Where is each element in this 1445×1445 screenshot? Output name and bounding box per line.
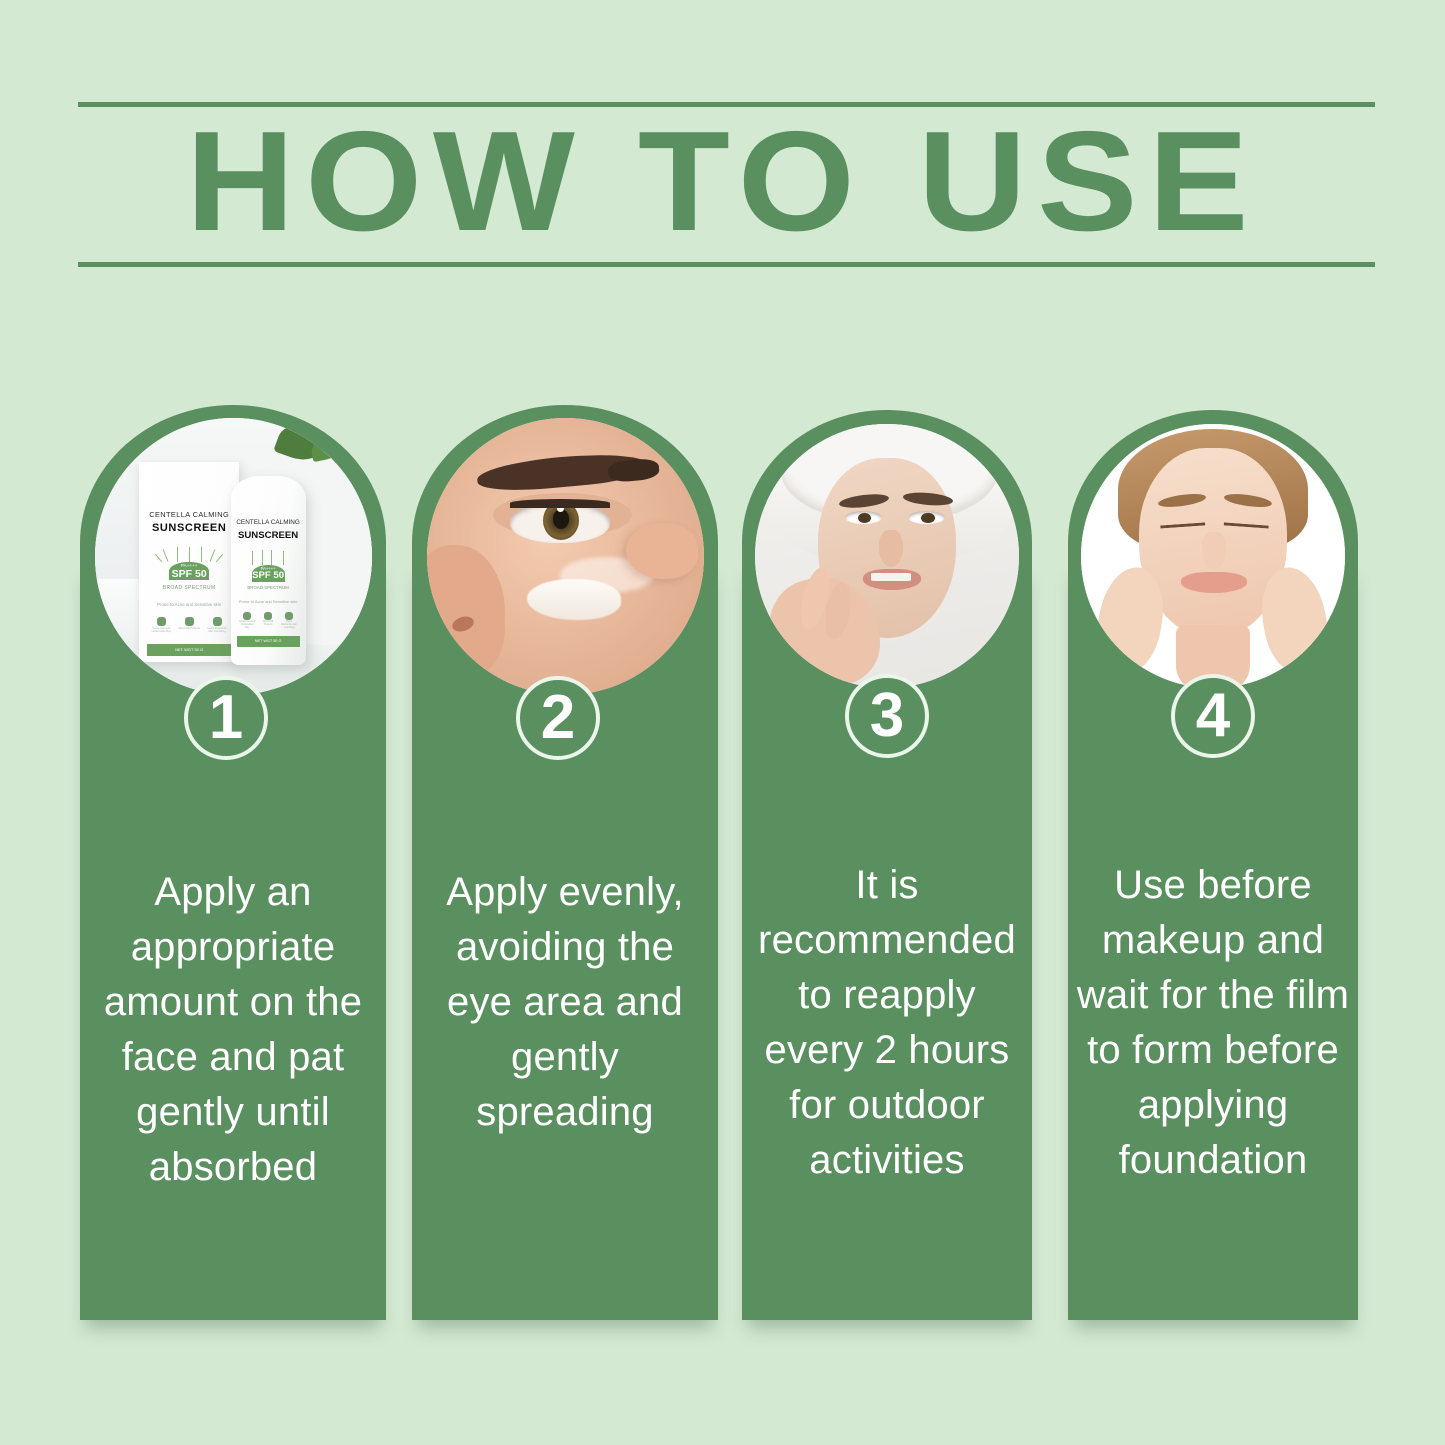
- serene-model-photo: [1081, 424, 1345, 688]
- towel-model-photo: [755, 424, 1019, 688]
- step-number-badge-3: 3: [845, 674, 929, 758]
- step-caption-1: Apply an appropriate amount on the face …: [96, 865, 370, 1195]
- step-image-4: [1081, 424, 1345, 688]
- sunscreen-product-photo: CENTELLA CALMING SUNSCREEN PA++++ SPF 50…: [95, 418, 372, 695]
- step-number-badge-2: 2: [516, 676, 600, 760]
- step-number-3: 3: [870, 685, 904, 747]
- product-skin-note: Prone to Acne and Sensitive skin: [139, 602, 239, 607]
- product-benefit-3: Helps Moisturize skin nourishing: [205, 617, 228, 633]
- product-spectrum: BROAD SPECTRUM: [139, 585, 239, 591]
- step-number-badge-4: 4: [1171, 674, 1255, 758]
- step-number-badge-1: 1: [184, 676, 268, 760]
- product-box: CENTELLA CALMING SUNSCREEN PA++++ SPF 50…: [139, 462, 239, 661]
- eye-closeup-photo: [427, 418, 704, 695]
- product-brand-line: CENTELLA CALMING: [139, 510, 239, 519]
- step-image-2: [427, 418, 704, 695]
- step-number-1: 1: [209, 687, 243, 749]
- product-spf: SPF 50: [139, 568, 239, 580]
- product-name: SUNSCREEN: [139, 522, 239, 534]
- step-caption-2: Apply evenly, avoiding the eye area and …: [428, 865, 702, 1140]
- product-net-weight: NET WGT 50 G: [147, 647, 231, 652]
- step-caption-3: It is recommended to reapply every 2 hou…: [750, 858, 1024, 1188]
- step-image-1: CENTELLA CALMING SUNSCREEN PA++++ SPF 50…: [95, 418, 372, 695]
- step-number-2: 2: [541, 687, 575, 749]
- product-benefit-2: Skin UVB Protects: [177, 617, 200, 633]
- steps-container: CENTELLA CALMING SUNSCREEN PA++++ SPF 50…: [0, 0, 1445, 1445]
- step-image-3: [755, 424, 1019, 688]
- step-caption-4: Use before makeup and wait for the film …: [1076, 858, 1350, 1188]
- product-benefit-1: Sunscreen and Unfavorable Ray: [150, 617, 173, 633]
- product-tube: CENTELLA CALMING SUNSCREEN PA++++ SPF 50…: [231, 476, 306, 664]
- step-number-4: 4: [1196, 685, 1230, 747]
